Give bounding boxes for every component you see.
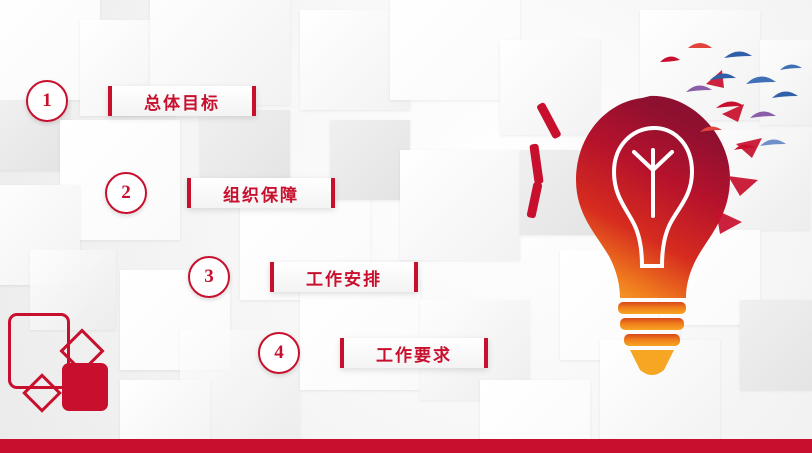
item-number-badge: 1 <box>26 80 68 122</box>
idea-rays-icon <box>526 102 561 219</box>
list-item[interactable]: 2 组织保障 <box>105 172 335 214</box>
item-number-badge: 4 <box>258 332 300 374</box>
list-item[interactable]: 1 总体目标 <box>26 80 256 122</box>
item-label-plate[interactable]: 工作要求 <box>340 338 488 368</box>
slide-canvas: 1 总体目标 2 组织保障 3 工作安排 4 工作要求 <box>0 0 812 453</box>
bulb-base-icon <box>618 302 686 375</box>
item-number-badge: 2 <box>105 172 147 214</box>
list-item[interactable]: 3 工作安排 <box>188 256 418 298</box>
list-item[interactable]: 4 工作要求 <box>258 332 488 374</box>
item-label-plate[interactable]: 总体目标 <box>108 86 256 116</box>
decorative-shapes <box>0 307 150 437</box>
item-number-badge: 3 <box>188 256 230 298</box>
lightbulb-illustration <box>510 40 810 400</box>
bottom-accent-bar <box>0 439 812 453</box>
item-label-plate[interactable]: 组织保障 <box>187 178 335 208</box>
item-label-plate[interactable]: 工作安排 <box>270 262 418 292</box>
